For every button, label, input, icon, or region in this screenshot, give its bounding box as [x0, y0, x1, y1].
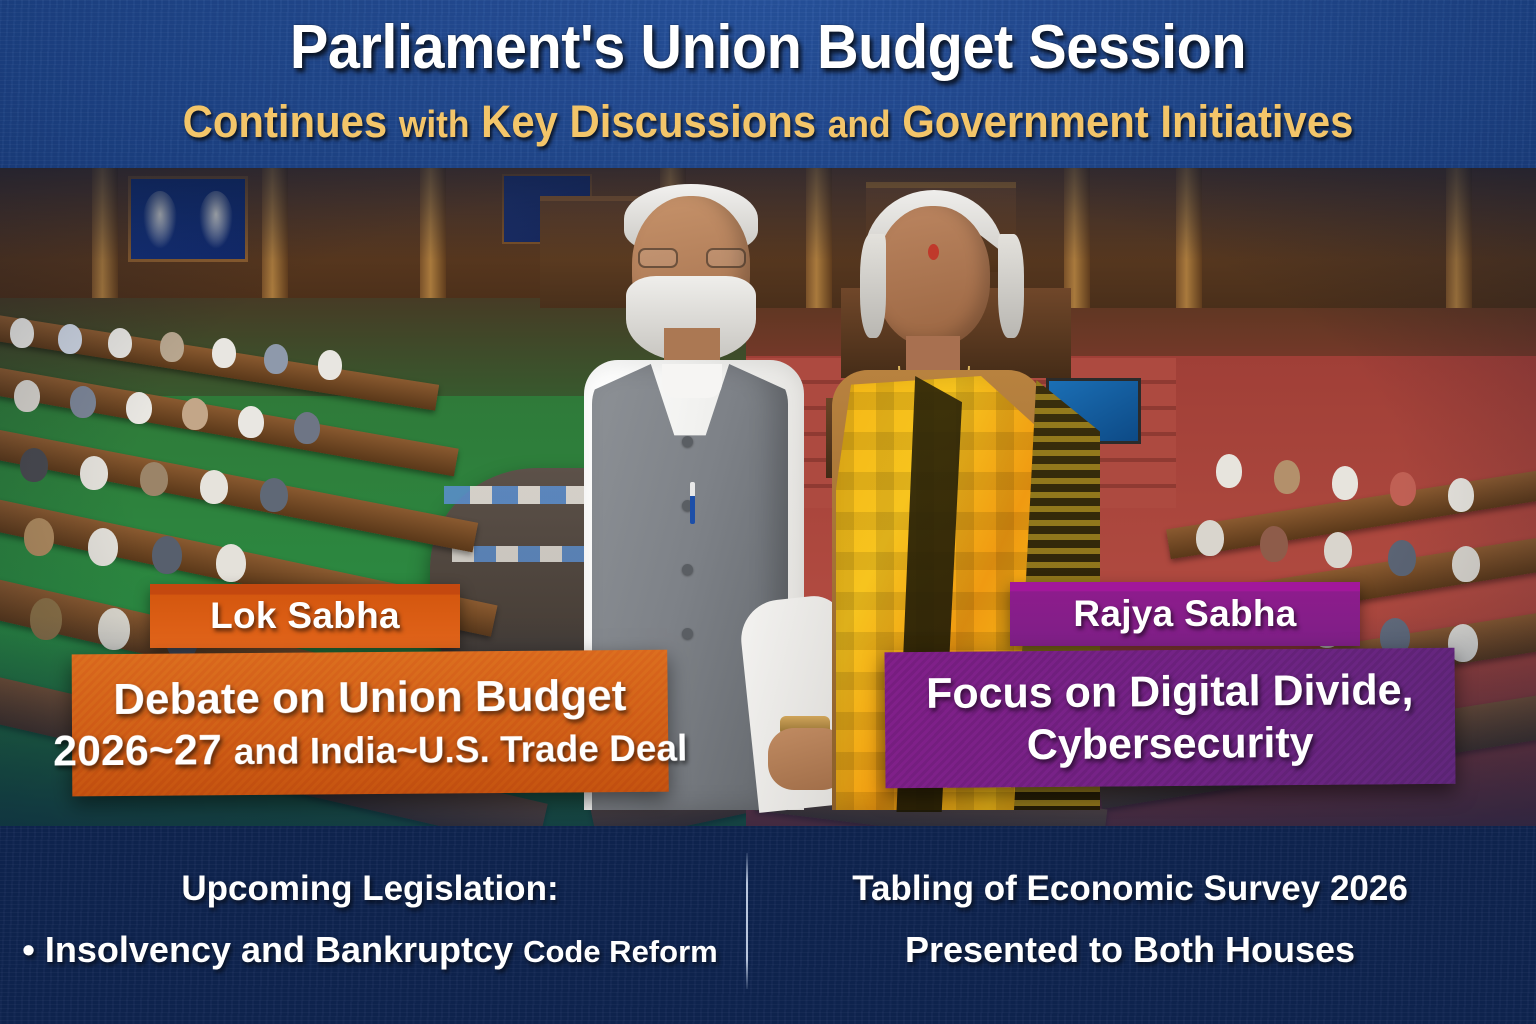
member-figure	[160, 332, 184, 362]
footer-divider	[746, 853, 748, 989]
member-figure	[1388, 540, 1416, 576]
member-figure	[108, 328, 132, 358]
pm-pocket-pen	[690, 482, 695, 524]
fm-hair-side	[860, 234, 886, 338]
member-figure	[1332, 466, 1358, 500]
rajya-sabha-line-2: Cybersecurity	[1027, 718, 1314, 768]
subtitle-word-key-discussions: Key Discussions	[481, 96, 816, 147]
rajya-sabha-line-1: Focus on Digital Divide,	[926, 666, 1414, 718]
hall-pillar	[1176, 168, 1202, 308]
legislation-bullet-tail: Code Reform	[523, 934, 718, 969]
member-figure	[1196, 520, 1224, 556]
member-figure	[1274, 460, 1300, 494]
lok-sabha-line-2: 2026~27 and India~U.S. Trade Deal	[53, 722, 688, 775]
footer-left-column: Upcoming Legislation: • Insolvency and B…	[0, 826, 740, 971]
hall-pillar	[1446, 168, 1472, 308]
member-figure	[152, 536, 182, 574]
member-figure	[238, 406, 264, 438]
member-figure	[1260, 526, 1288, 562]
pm-jacket-button	[682, 628, 693, 639]
lok-sabha-content-box: Debate on Union Budget 2026~27 and India…	[72, 650, 669, 797]
pm-glasses-icon	[636, 248, 748, 268]
fm-head	[876, 206, 990, 346]
hall-pillar	[420, 168, 446, 298]
header: Parliament's Union Budget Session Contin…	[0, 0, 1536, 168]
member-figure	[88, 528, 118, 566]
upcoming-legislation-item: • Insolvency and Bankruptcy Code Reform	[0, 928, 740, 971]
lok-sabha-trade-deal-text: and India~U.S. Trade Deal	[234, 727, 688, 772]
member-figure	[200, 470, 228, 504]
subtitle-word-government-initiatives: Government Initiatives	[902, 96, 1353, 147]
chamber-emblem-icon	[128, 176, 248, 262]
member-figure	[212, 338, 236, 368]
lok-sabha-year-range: 2026~27	[53, 726, 222, 775]
member-figure	[98, 608, 130, 650]
member-figure	[58, 324, 82, 354]
member-figure	[10, 318, 34, 348]
economic-survey-line-1: Tabling of Economic Survey 2026	[760, 868, 1500, 910]
subtitle-word-continues: Continues	[183, 96, 388, 147]
upcoming-legislation-heading: Upcoming Legislation:	[0, 868, 740, 910]
hall-pillar	[92, 168, 118, 298]
member-figure	[14, 380, 40, 412]
legislation-bullet-main: • Insolvency and Bankruptcy	[22, 929, 513, 970]
subtitle-word-with: with	[399, 104, 470, 146]
pm-jacket-button	[682, 436, 693, 447]
pm-jacket-button	[682, 564, 693, 575]
infographic-canvas: Parliament's Union Budget Session Contin…	[0, 0, 1536, 1024]
footer: Upcoming Legislation: • Insolvency and B…	[0, 826, 1536, 1024]
page-title: Parliament's Union Budget Session	[54, 16, 1482, 80]
member-figure	[70, 386, 96, 418]
member-figure	[216, 544, 246, 582]
member-figure	[126, 392, 152, 424]
member-figure	[1390, 472, 1416, 506]
lok-sabha-badge: Lok Sabha	[150, 584, 460, 648]
member-figure	[318, 350, 342, 380]
member-figure	[264, 344, 288, 374]
member-figure	[20, 448, 48, 482]
rajya-sabha-badge: Rajya Sabha	[1010, 582, 1360, 646]
page-subtitle: Continues with Key Discussions and Gover…	[54, 98, 1482, 146]
member-figure	[24, 518, 54, 556]
member-figure	[1448, 478, 1474, 512]
member-figure	[30, 598, 62, 640]
rajya-sabha-content-box: Focus on Digital Divide, Cybersecurity	[884, 648, 1455, 788]
hall-pillar	[262, 168, 288, 298]
member-figure	[260, 478, 288, 512]
member-figure	[1452, 546, 1480, 582]
member-figure	[1324, 532, 1352, 568]
economic-survey-line-2: Presented to Both Houses	[760, 928, 1500, 971]
lok-sabha-line-1: Debate on Union Budget	[113, 671, 627, 724]
pm-collar	[662, 364, 722, 398]
member-figure	[182, 398, 208, 430]
member-figure	[1216, 454, 1242, 488]
fm-bindi	[928, 244, 939, 260]
member-figure	[294, 412, 320, 444]
member-figure	[140, 462, 168, 496]
fm-hair-side	[998, 234, 1024, 338]
member-figure	[80, 456, 108, 490]
subtitle-word-and: and	[828, 104, 891, 146]
footer-right-column: Tabling of Economic Survey 2026 Presente…	[760, 826, 1500, 971]
